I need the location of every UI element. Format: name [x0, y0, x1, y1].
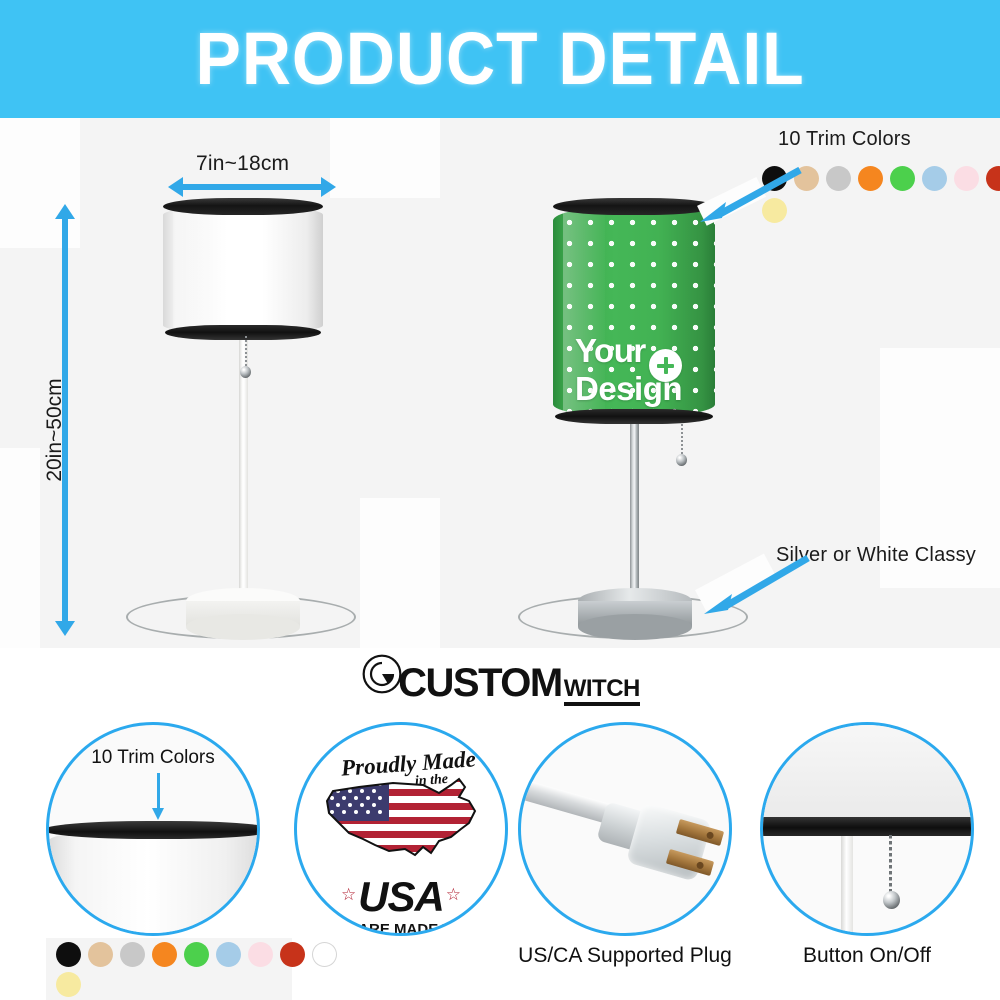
product-stage: 10 Trim Colors 7in~18cm 20in~50cm [0, 118, 1000, 698]
swatch-light-blue[interactable] [922, 166, 947, 191]
pull-chain-green[interactable] [681, 424, 683, 456]
height-arrow [62, 218, 68, 622]
pull-chain-white[interactable] [245, 336, 247, 368]
shade-preview-trim-bottom [760, 817, 974, 836]
swatch-white[interactable] [312, 942, 337, 967]
swatch-pink[interactable] [248, 942, 273, 967]
feature-circle-usa: Proudly Made in the [294, 722, 508, 936]
usa-star-left-icon: ☆ [341, 885, 356, 905]
lamp-pole-silver [630, 424, 639, 612]
swatch-black[interactable] [56, 942, 81, 967]
background-patch [0, 118, 80, 248]
background-patch [330, 118, 440, 198]
plus-icon[interactable] [649, 349, 682, 382]
swatch-gray[interactable] [826, 166, 851, 191]
shade-trim-top-white [163, 198, 323, 215]
base-finish-arrow [692, 546, 822, 626]
shade-trim-top-green [553, 198, 715, 215]
brand-logo-band: CUSTOM WITCH [0, 648, 1000, 710]
swatch-green[interactable] [890, 166, 915, 191]
lampshade-green: Your Design [553, 198, 715, 424]
logo-c-icon [360, 652, 404, 696]
shade-preview-body [49, 829, 260, 936]
feature-circle-trim: 10 Trim Colors [46, 722, 260, 936]
lamp-base-silver [578, 588, 692, 640]
swatch-green[interactable] [184, 942, 209, 967]
swatch-orange[interactable] [152, 942, 177, 967]
pull-chain-ball-preview[interactable] [883, 891, 900, 909]
pull-chain-ball-white[interactable] [240, 366, 251, 378]
logo-sub-wrap: WITCH [564, 677, 640, 706]
feature-caption-button: Button On/Off [752, 944, 982, 968]
usa-star-right-icon: ☆ [446, 885, 461, 905]
lamp-pole-preview [841, 833, 853, 936]
swatch-yellow[interactable] [56, 972, 81, 997]
trim-colors-top-label: 10 Trim Colors [778, 128, 911, 151]
feature-circle-button [760, 722, 974, 936]
trim-swatch-row-bottom-1[interactable] [56, 942, 337, 967]
feature-circle-plug [518, 722, 732, 936]
base-bottom [578, 614, 692, 640]
shade-preview-above [760, 725, 974, 821]
swatch-light-blue[interactable] [216, 942, 241, 967]
lampshade-white [163, 198, 323, 340]
pull-chain-ball-green[interactable] [676, 454, 687, 466]
page-title: PRODUCT DETAIL [195, 22, 804, 96]
swatch-orange[interactable] [858, 166, 883, 191]
swatch-red[interactable] [280, 942, 305, 967]
feature-trim-inner-label: 10 Trim Colors [91, 747, 215, 769]
swatch-gray[interactable] [120, 942, 145, 967]
trim-swatch-row-bottom-2[interactable] [56, 972, 81, 997]
shade-preview-trim [46, 821, 260, 839]
design-text-line1: Your [575, 334, 646, 368]
header-banner: PRODUCT DETAIL [0, 0, 1000, 118]
feature-row: 10 Trim Colors Proudly Made in the [0, 710, 1000, 1000]
usa-map-flag-icon [319, 771, 489, 871]
pull-chain-preview[interactable] [889, 835, 892, 893]
lamp-base-white [186, 588, 300, 640]
trim-down-arrow-icon [157, 773, 160, 809]
swatch-tan[interactable] [88, 942, 113, 967]
base-bottom [186, 614, 300, 640]
width-label: 7in~18cm [196, 152, 289, 176]
usa-big-text: USA [358, 873, 444, 921]
trim-callout-arrow [692, 160, 812, 230]
shade-surface-white [163, 206, 323, 333]
swatch-pink[interactable] [954, 166, 979, 191]
logo-sub: WITCH [564, 677, 640, 706]
brand-logo: CUSTOM WITCH [360, 652, 640, 706]
shade-gloss [173, 206, 215, 333]
usa-tagline: ALL ITEMS ARE MADE TO ORDER! [294, 921, 508, 936]
logo-word: CUSTOM [398, 663, 562, 703]
shade-trim-bottom-green [555, 409, 713, 424]
swatch-red[interactable] [986, 166, 1000, 191]
feature-caption-plug: US/CA Supported Plug [500, 944, 750, 968]
width-arrow [182, 184, 322, 190]
shade-trim-bottom-white [165, 325, 321, 340]
